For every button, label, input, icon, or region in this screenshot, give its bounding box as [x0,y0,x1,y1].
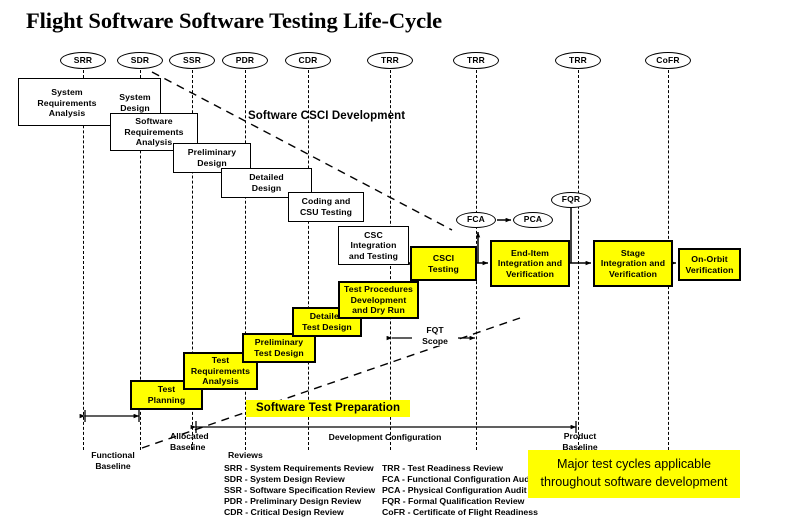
box-on-orbit-verification[interactable]: On-OrbitVerification [678,248,741,281]
milestone-label-trr2: TRR [467,55,485,65]
box-label-preliminary-design: PreliminaryDesign [174,147,250,168]
milestone-label-cdr: CDR [298,55,317,65]
box-coding-and-csu-testing[interactable]: Coding andCSU Testing [288,192,364,222]
milestone-oval-pdr[interactable]: PDR [222,52,268,69]
diagram-canvas: Flight Software Software Testing Life-Cy… [0,0,806,524]
milestone-label-ssr: SSR [183,55,201,65]
audit-label-fqr: FQR [562,194,581,204]
box-label-csc-integration-and-testing: CSCIntegrationand Testing [339,230,408,262]
box-test-procedures-development-and-dry-run[interactable]: Test ProceduresDevelopmentand Dry Run [338,281,419,319]
milestone-oval-trr2[interactable]: TRR [453,52,499,69]
legend-item-ssr: SSR - Software Specification Review [224,485,382,496]
box-label-end-item-integration-and-verification: End-ItemIntegration andVerification [492,248,568,280]
caption-development-configuration: Development Configuration [290,432,480,443]
page-title: Flight Software Software Testing Life-Cy… [26,8,442,34]
legend-item-srr: SRR - System Requirements Review [224,463,382,474]
milestone-label-trr3: TRR [569,55,587,65]
legend-item-pdr: PDR - Preliminary Design Review [224,496,382,507]
box-label-system-design: SystemDesign [111,92,159,113]
milestone-oval-sdr[interactable]: SDR [117,52,163,69]
milestone-oval-ssr[interactable]: SSR [169,52,215,69]
caption-product-baseline: ProductBaseline [549,431,611,452]
milestone-label-srr: SRR [74,55,93,65]
milestone-oval-trr1[interactable]: TRR [367,52,413,69]
milestone-line-cdr [308,70,309,450]
box-label-preliminary-test-design: PreliminaryTest Design [244,337,314,358]
box-csci-testing[interactable]: CSCITesting [410,246,477,281]
milestone-label-trr1: TRR [381,55,399,65]
milestone-label-sdr: SDR [131,55,150,65]
audit-oval-fca[interactable]: FCA [456,212,496,228]
milestone-label-pdr: PDR [236,55,255,65]
box-csc-integration-and-testing[interactable]: CSCIntegrationand Testing [338,226,409,265]
audit-label-fca: FCA [467,214,485,224]
legend-item-cdr: CDR - Critical Design Review [224,507,382,518]
banner-software-csci-development: Software CSCI Development [248,110,405,122]
box-label-on-orbit-verification: On-OrbitVerification [680,254,739,275]
legend-heading: Reviews [228,450,562,461]
audit-label-pca: PCA [524,214,543,224]
milestone-oval-cofr[interactable]: CoFR [645,52,691,69]
box-label-detailed-design: DetailedDesign [222,172,311,193]
box-label-csci-testing: CSCITesting [412,253,475,274]
legend: Reviews SRR - System Requirements Review… [224,450,562,518]
banner-software-test-preparation: Software Test Preparation [246,400,410,417]
milestone-line-srr [83,70,84,450]
milestone-oval-cdr[interactable]: CDR [285,52,331,69]
callout-major-test-cycles: Major test cycles applicable throughout … [528,450,740,498]
caption-allocated-baseline: AllocatedBaseline [170,431,232,452]
box-label-test-procedures-development-and-dry-run: Test ProceduresDevelopmentand Dry Run [340,284,417,316]
audit-oval-fqr[interactable]: FQR [551,192,591,208]
box-label-stage-integration-and-verification: StageIntegration andVerification [595,248,671,280]
milestone-oval-srr[interactable]: SRR [60,52,106,69]
box-preliminary-test-design[interactable]: PreliminaryTest Design [242,333,316,363]
box-label-system-requirements-analysis: SystemRequirementsAnalysis [23,87,111,119]
fqt-scope-label: FQTScope [412,325,458,346]
milestone-label-cofr: CoFR [656,55,679,65]
audit-oval-pca[interactable]: PCA [513,212,553,228]
box-label-coding-and-csu-testing: Coding andCSU Testing [289,196,363,217]
milestone-oval-trr3[interactable]: TRR [555,52,601,69]
caption-functional-baseline: FunctionalBaseline [75,450,151,471]
box-stage-integration-and-verification[interactable]: StageIntegration andVerification [593,240,673,287]
box-end-item-integration-and-verification[interactable]: End-ItemIntegration andVerification [490,240,570,287]
legend-item-sdr: SDR - System Design Review [224,474,382,485]
milestone-line-trr3 [578,70,579,450]
legend-column-left: SRR - System Requirements Review SDR - S… [224,463,382,518]
milestone-line-pdr [245,70,246,450]
legend-item-cofr: CoFR - Certificate of Flight Readiness [382,507,562,518]
